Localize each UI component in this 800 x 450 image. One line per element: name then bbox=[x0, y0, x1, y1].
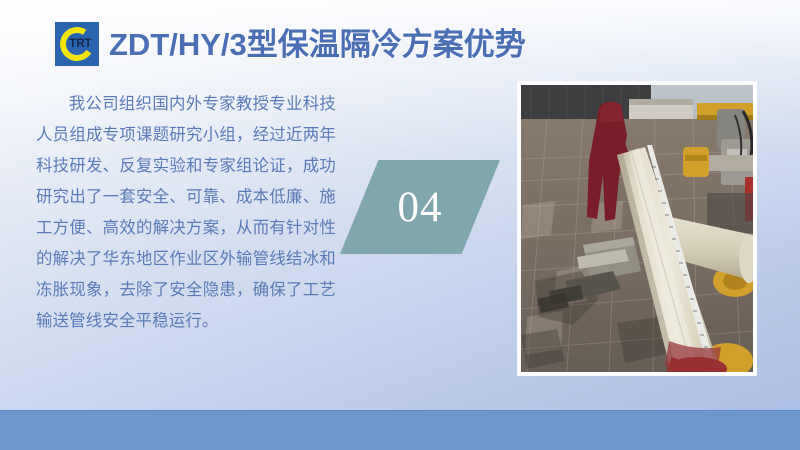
insulated-pipeline-photo-icon bbox=[521, 85, 753, 372]
section-number-badge: 04 bbox=[340, 160, 500, 254]
trt-company-logo-icon: TRT bbox=[55, 22, 99, 66]
body-paragraph: 我公司组织国内外专家教授专业科技人员组成专项课题研究小组，经过近两年科技研发、反… bbox=[36, 88, 336, 336]
slide-header: TRT ZDT/HY/3型保温隔冷方案优势 bbox=[55, 22, 526, 66]
photo-frame bbox=[518, 82, 756, 375]
logo-trt-text: TRT bbox=[55, 22, 99, 66]
footer-band bbox=[0, 410, 800, 450]
presentation-slide: TRT ZDT/HY/3型保温隔冷方案优势 我公司组织国内外专家教授专业科技人员… bbox=[0, 0, 800, 450]
section-number-label: 04 bbox=[340, 160, 500, 254]
page-title: ZDT/HY/3型保温隔冷方案优势 bbox=[109, 29, 526, 60]
